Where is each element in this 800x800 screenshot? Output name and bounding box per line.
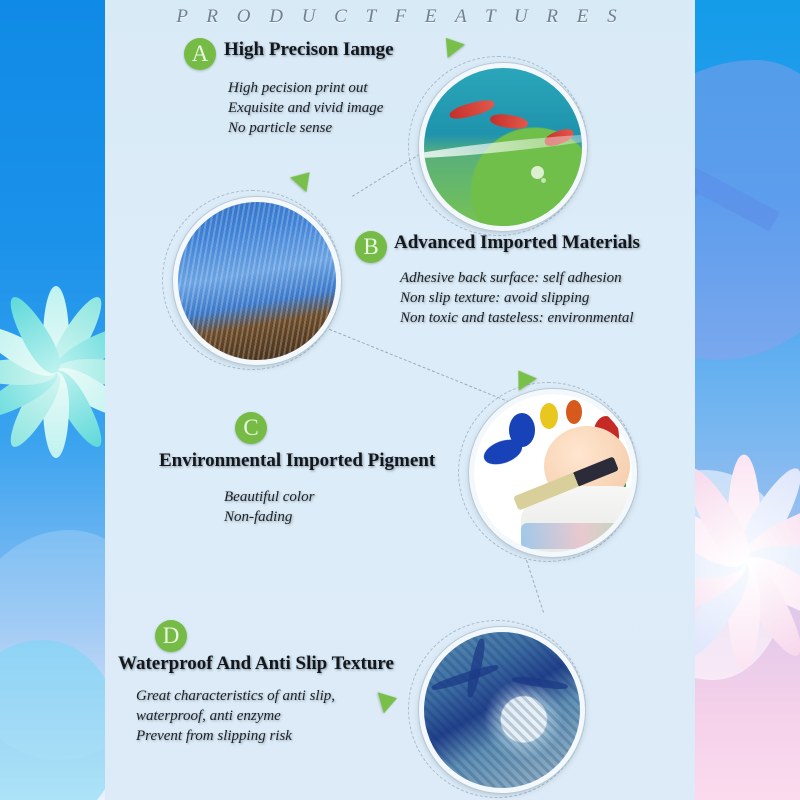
body-d: Great characteristics of anti slip, wate… (136, 686, 335, 746)
body-b-line-3: Non toxic and tasteless: environmental (400, 308, 634, 328)
heading-a: High Precison Iamge (224, 39, 394, 61)
paint-paper (521, 523, 637, 549)
texture-vein-2 (431, 662, 500, 692)
paint-splatter-orange (566, 400, 582, 424)
badge-a: A (184, 38, 216, 70)
body-c: Beautiful color Non-fading (224, 487, 314, 527)
heading-d: Waterproof And Anti Slip Texture (118, 653, 394, 675)
badge-d: D (155, 620, 187, 652)
body-a-line-2: Exquisite and vivid image (228, 98, 383, 118)
heading-c: Environmental Imported Pigment (159, 450, 435, 472)
body-b-line-2: Non slip texture: avoid slipping (400, 288, 634, 308)
koi-fish-icon-2 (490, 112, 530, 131)
badge-c: C (235, 412, 267, 444)
heading-b: Advanced Imported Materials (394, 232, 640, 254)
body-d-line-1: Great characteristics of anti slip, (136, 686, 335, 706)
water-drop-icon (531, 166, 544, 179)
body-a-line-1: High pecision print out (228, 78, 383, 98)
photo-baby-paint (469, 389, 637, 557)
infographic-canvas: P R O D U C T F E A T U R E S A High Pre… (0, 0, 800, 800)
photo-koi-print (419, 63, 587, 231)
paint-splatter-yellow (540, 403, 558, 429)
left-border-panel (0, 0, 112, 800)
paint-splatter-blue-2 (509, 413, 535, 447)
photo-water-droplet (419, 627, 585, 793)
page-title: P R O D U C T F E A T U R E S (0, 6, 800, 28)
photo-c-image (474, 394, 632, 552)
body-c-line-1: Beautiful color (224, 487, 314, 507)
body-b-line-1: Adhesive back surface: self adhesion (400, 268, 634, 288)
photo-a-image (424, 68, 582, 226)
body-a: High pecision print out Exquisite and vi… (228, 78, 383, 138)
photo-blue-fabric (173, 197, 341, 365)
badge-b: B (355, 231, 387, 263)
right-border-panel (688, 0, 800, 800)
body-d-line-2: waterproof, anti enzyme (136, 706, 335, 726)
photo-b-image (178, 202, 336, 360)
koi-fish-icon (448, 97, 496, 121)
photo-d-image (424, 632, 580, 788)
body-b: Adhesive back surface: self adhesion Non… (400, 268, 634, 328)
texture-vein-3 (511, 675, 568, 691)
body-d-line-3: Prevent from slipping risk (136, 726, 335, 746)
body-a-line-3: No particle sense (228, 118, 383, 138)
body-c-line-2: Non-fading (224, 507, 314, 527)
